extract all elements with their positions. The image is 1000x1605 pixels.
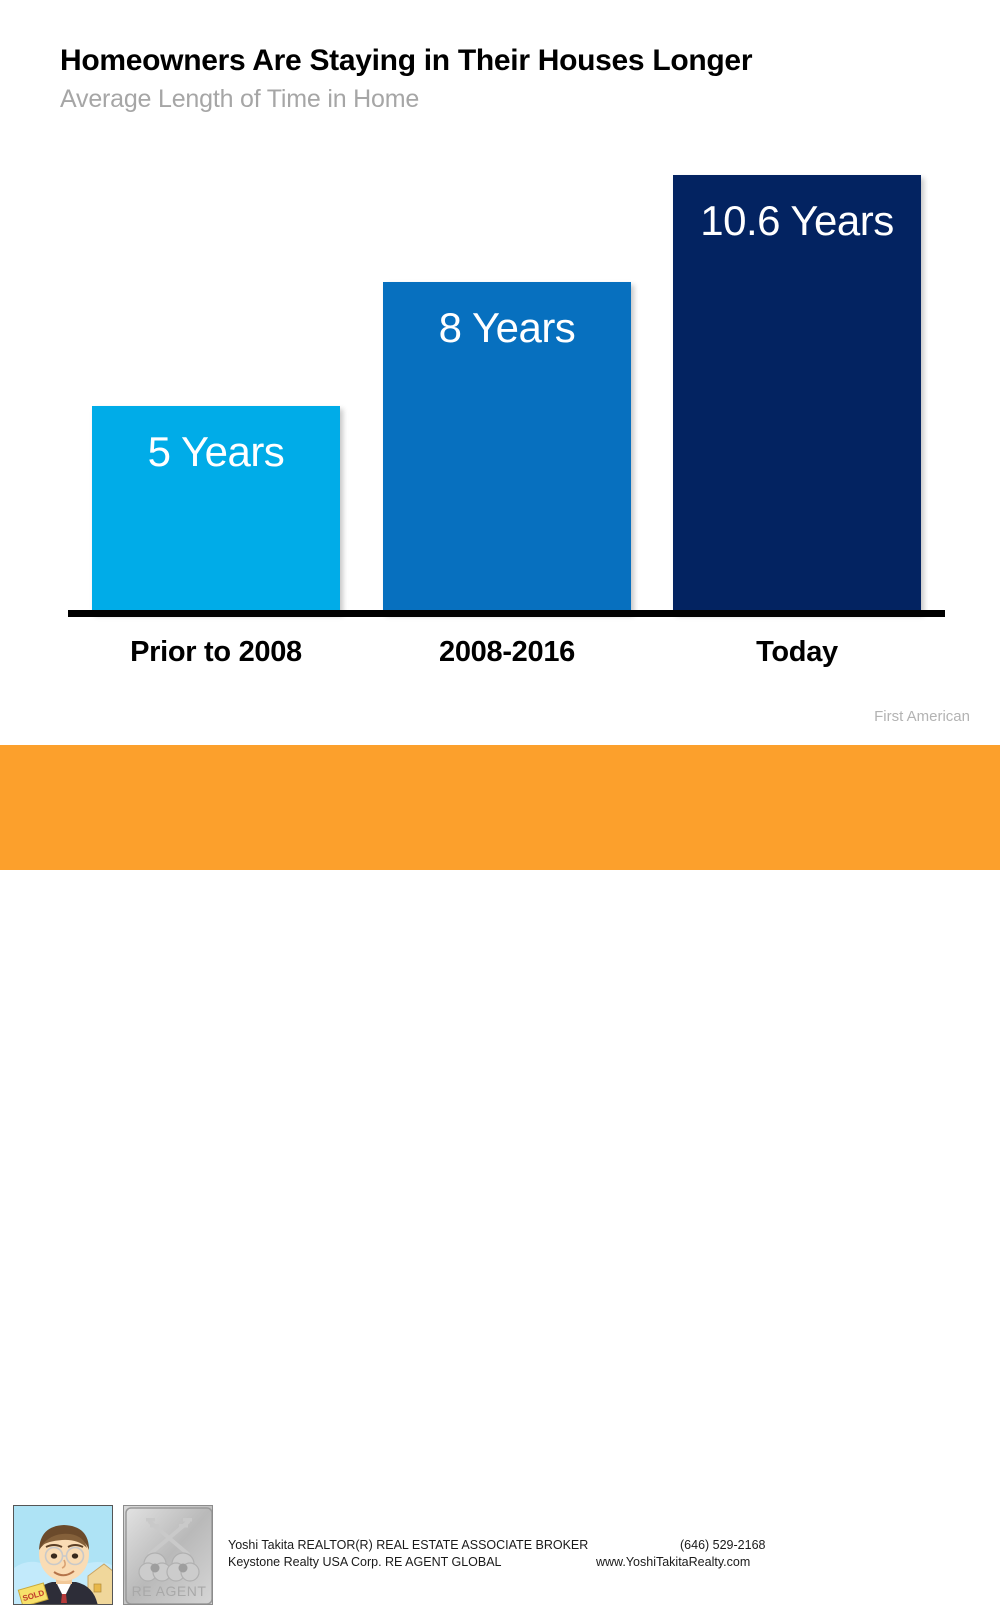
bar-value-label: 10.6 Years bbox=[673, 197, 921, 245]
source-attribution: First American bbox=[874, 708, 970, 725]
agent-name-title: Yoshi Takita REALTOR(R) REAL ESTATE ASSO… bbox=[228, 1537, 588, 1554]
agent-website[interactable]: www.YoshiTakitaRealty.com bbox=[596, 1554, 750, 1571]
agent-portrait-image: SOLD bbox=[13, 1505, 113, 1605]
footer-line-1: Yoshi Takita REALTOR(R) REAL ESTATE ASSO… bbox=[228, 1537, 828, 1554]
re-agent-badge-text: RE AGENT bbox=[132, 1583, 207, 1599]
agent-phone[interactable]: (646) 529-2168 bbox=[680, 1537, 765, 1554]
agent-contact-info: Yoshi Takita REALTOR(R) REAL ESTATE ASSO… bbox=[228, 1537, 828, 1571]
bar-2008-2016: 8 Years bbox=[383, 282, 631, 613]
bar-value-label: 8 Years bbox=[383, 304, 631, 352]
agent-brokerage: Keystone Realty USA Corp. RE AGENT GLOBA… bbox=[228, 1554, 502, 1571]
footer-line-2: Keystone Realty USA Corp. RE AGENT GLOBA… bbox=[228, 1554, 828, 1571]
bar-prior-to-2008: 5 Years bbox=[92, 406, 340, 613]
x-axis-label-prior-to-2008: Prior to 2008 bbox=[92, 636, 340, 669]
x-axis-label-today: Today bbox=[673, 636, 921, 669]
bar-value-label: 5 Years bbox=[92, 428, 340, 476]
footer-bar: SOLD bbox=[0, 745, 1000, 870]
bar-today: 10.6 Years bbox=[673, 175, 921, 613]
x-axis-label-2008-2016: 2008-2016 bbox=[383, 636, 631, 669]
re-agent-logo: RE AGENT bbox=[123, 1505, 213, 1605]
bar-chart: 5 Years 8 Years 10.6 Years Prior to 2008… bbox=[0, 0, 1000, 745]
x-axis-line bbox=[68, 610, 945, 617]
